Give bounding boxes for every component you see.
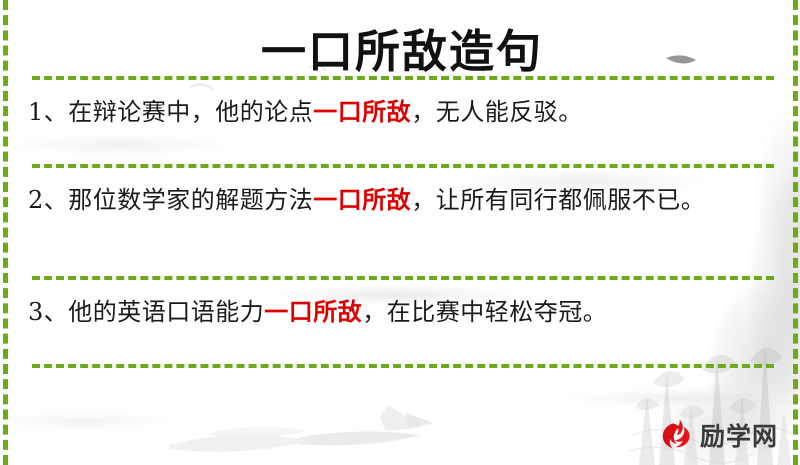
highlighted-idiom-2: 一口所敌 bbox=[313, 185, 411, 214]
sentence-number-2: 2、 bbox=[28, 186, 68, 214]
sentence-number-1: 1、 bbox=[28, 98, 68, 126]
sentence-item-1: 1、在辩论赛中，他的论点一口所敌，无人能反驳。 bbox=[22, 80, 782, 164]
sentence-before-1: 在辩论赛中，他的论点 bbox=[68, 98, 313, 126]
sentence-after-2: ，让所有同行都佩服不已。 bbox=[411, 186, 705, 214]
sentence-worksheet-page: 一口所敌造句 1、在辩论赛中，他的论点一口所敌，无人能反驳。 2、那位数学家的解… bbox=[0, 0, 800, 465]
sentence-after-1: ，无人能反驳。 bbox=[411, 98, 583, 126]
highlighted-idiom-1: 一口所敌 bbox=[313, 97, 411, 126]
sentence-before-2: 那位数学家的解题方法 bbox=[68, 186, 313, 214]
site-logo-text: 励学网 bbox=[700, 417, 778, 453]
sentence-text-1: 1、在辩论赛中，他的论点一口所敌，无人能反驳。 bbox=[28, 93, 778, 131]
worksheet-content: 一口所敌造句 1、在辩论赛中，他的论点一口所敌，无人能反驳。 2、那位数学家的解… bbox=[0, 0, 800, 465]
sentence-item-2: 2、那位数学家的解题方法一口所敌，让所有同行都佩服不已。 bbox=[22, 168, 782, 276]
site-logo[interactable]: 励学网 bbox=[659, 417, 778, 453]
page-title: 一口所敌造句 bbox=[22, 0, 782, 76]
sentence-item-3: 3、他的英语口语能力一口所敌，在比赛中轻松夺冠。 bbox=[22, 280, 782, 364]
sentence-number-3: 3、 bbox=[28, 298, 68, 326]
sentence-text-3: 3、他的英语口语能力一口所敌，在比赛中轻松夺冠。 bbox=[28, 293, 778, 331]
sentence-text-2: 2、那位数学家的解题方法一口所敌，让所有同行都佩服不已。 bbox=[28, 181, 778, 219]
sentence-after-3: ，在比赛中轻松夺冠。 bbox=[362, 298, 607, 326]
highlighted-idiom-3: 一口所敌 bbox=[264, 297, 362, 326]
flame-swirl-icon bbox=[659, 418, 693, 452]
sentence-before-3: 他的英语口语能力 bbox=[68, 298, 264, 326]
